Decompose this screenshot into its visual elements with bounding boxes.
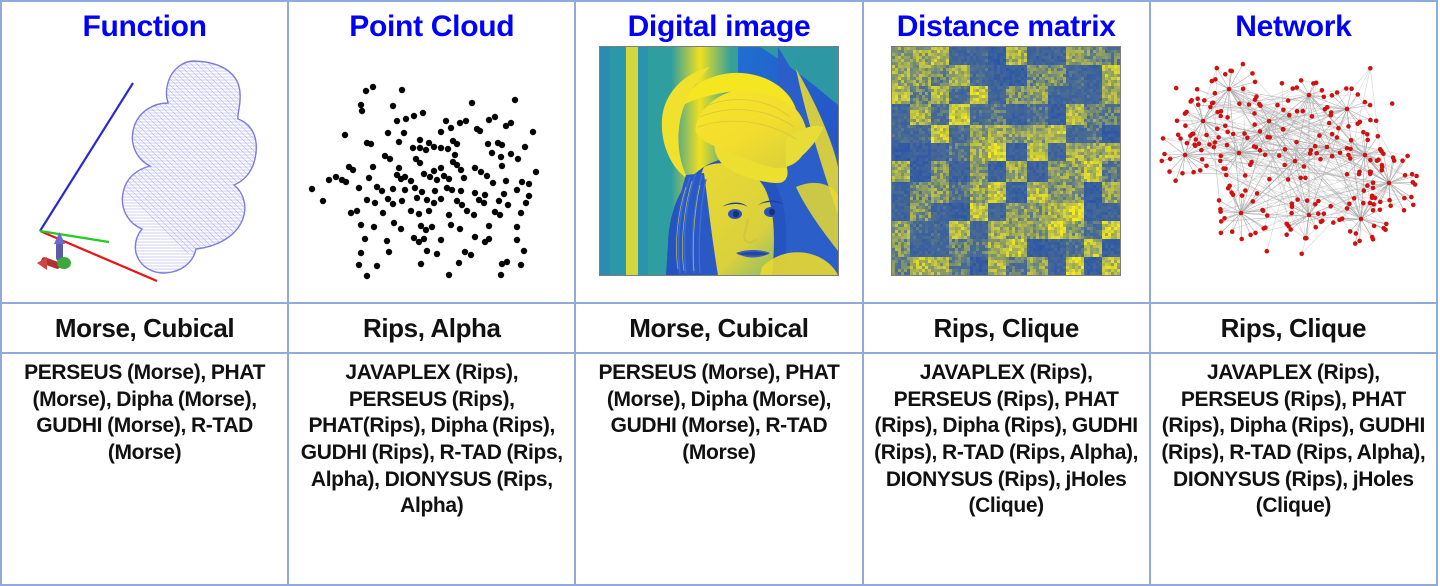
filtration-label-point-cloud: Rips, Alpha xyxy=(289,304,574,352)
figure-network-graph xyxy=(1151,43,1436,283)
cell-filtration-digital-image: Morse, Cubical xyxy=(575,303,862,353)
heatmap-icon xyxy=(892,47,1120,275)
cell-software-digital-image: PERSEUS (Morse), PHAT (Morse), Dipha (Mo… xyxy=(575,353,862,585)
cell-filtration-distance-matrix: Rips, Clique xyxy=(863,303,1150,353)
column-title-network: Network xyxy=(1151,2,1436,43)
figure-distance-matrix-heatmap xyxy=(864,43,1149,287)
software-list-digital-image: PERSEUS (Morse), PHAT (Morse), Dipha (Mo… xyxy=(576,354,861,467)
data-type-software-table: Function xyxy=(0,0,1438,586)
software-list-function: PERSEUS (Morse), PHAT (Morse), Dipha (Mo… xyxy=(2,354,287,467)
network-graph-icon xyxy=(1151,43,1435,283)
column-title-distance-matrix: Distance matrix xyxy=(864,2,1149,43)
distance-matrix-image xyxy=(892,47,1120,275)
scatter-points-icon xyxy=(289,43,574,283)
cell-software-distance-matrix: JAVAPLEX (Rips), PERSEUS (Rips), PHAT (R… xyxy=(863,353,1150,585)
cell-function-figure: Function xyxy=(1,1,288,303)
cell-software-point-cloud: JAVAPLEX (Rips), PERSEUS (Rips), PHAT(Ri… xyxy=(288,353,575,585)
filtration-label-function: Morse, Cubical xyxy=(2,304,287,352)
cell-network-figure: Network xyxy=(1150,1,1437,303)
figure-3d-function-wireframe-surface xyxy=(2,43,287,283)
cell-distance-matrix-figure: Distance matrix xyxy=(863,1,1150,303)
figure-digital-image-lena-viridis xyxy=(576,43,861,287)
software-list-distance-matrix: JAVAPLEX (Rips), PERSEUS (Rips), PHAT (R… xyxy=(864,354,1149,520)
filtration-label-network: Rips, Clique xyxy=(1151,304,1436,352)
cell-point-cloud-figure: Point Cloud xyxy=(288,1,575,303)
cell-software-function: PERSEUS (Morse), PHAT (Morse), Dipha (Mo… xyxy=(1,353,288,585)
figure-point-cloud-scatter xyxy=(289,43,574,283)
software-list-point-cloud: JAVAPLEX (Rips), PERSEUS (Rips), PHAT(Ri… xyxy=(289,354,574,520)
column-title-digital-image: Digital image xyxy=(576,2,861,43)
table-row-filtration: Morse, Cubical Rips, Alpha Morse, Cubica… xyxy=(1,303,1437,353)
comparison-table-container: Function xyxy=(0,0,1440,586)
cell-filtration-network: Rips, Clique xyxy=(1150,303,1437,353)
cell-software-network: JAVAPLEX (Rips), PERSEUS (Rips), PHAT (R… xyxy=(1150,353,1437,585)
cell-filtration-function: Morse, Cubical xyxy=(1,303,288,353)
table-row-software: PERSEUS (Morse), PHAT (Morse), Dipha (Mo… xyxy=(1,353,1437,585)
filtration-label-digital-image: Morse, Cubical xyxy=(576,304,861,352)
lena-portrait-icon xyxy=(600,47,838,275)
cell-digital-image-figure: Digital image xyxy=(575,1,862,303)
table-row-figures: Function xyxy=(1,1,1437,303)
wireframe-surface-icon xyxy=(98,53,273,283)
lena-image xyxy=(600,47,838,275)
software-list-network: JAVAPLEX (Rips), PERSEUS (Rips), PHAT (R… xyxy=(1151,354,1436,520)
cell-filtration-point-cloud: Rips, Alpha xyxy=(288,303,575,353)
column-title-point-cloud: Point Cloud xyxy=(289,2,574,43)
column-title-function: Function xyxy=(2,2,287,43)
filtration-label-distance-matrix: Rips, Clique xyxy=(864,304,1149,352)
